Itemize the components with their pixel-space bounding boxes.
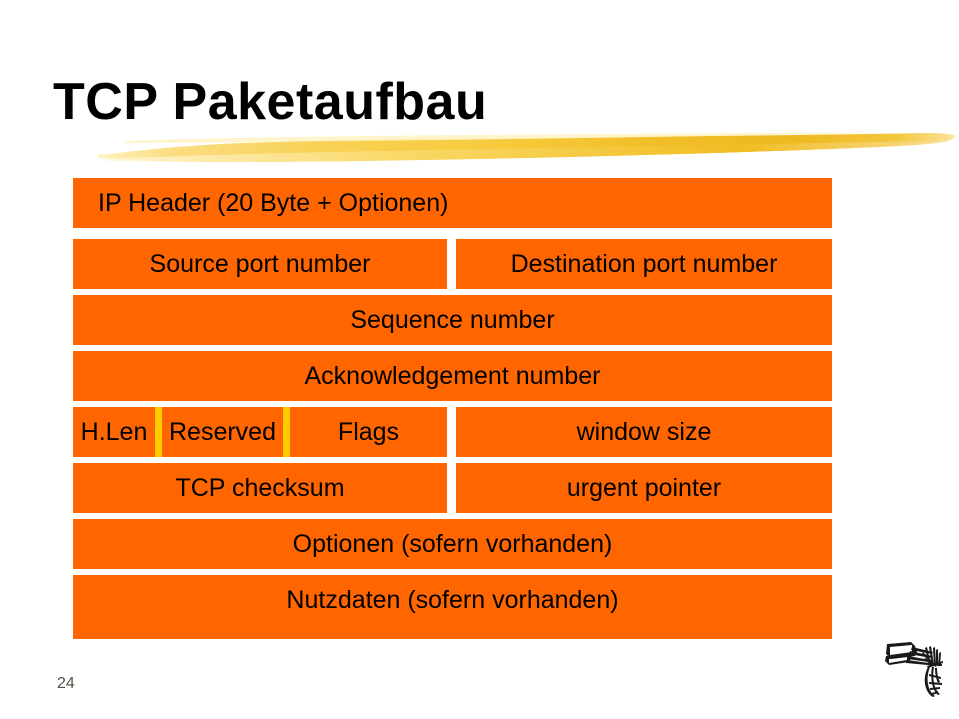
slide-canvas: TCP Paketaufbau <box>0 0 959 719</box>
reserved-label: Reserved <box>169 420 276 445</box>
window-size-label: window size <box>577 420 712 445</box>
source-port-label: Source port number <box>150 252 371 277</box>
sequence-number-row: Sequence number <box>73 295 832 345</box>
header-length-label: H.Len <box>81 420 148 445</box>
flags-label: Flags <box>338 420 399 445</box>
ip-header-row: IP Header (20 Byte + Optionen) <box>73 178 832 228</box>
header-flags-window-row: H.Len Reserved Flags window size <box>73 407 832 457</box>
quill-pen-icon <box>885 638 949 700</box>
sequence-number-cell: Sequence number <box>73 295 832 345</box>
options-cell: Optionen (sofern vorhanden) <box>73 519 832 569</box>
reserved-divider-icon <box>283 407 290 457</box>
acknowledgement-number-row: Acknowledgement number <box>73 351 832 401</box>
urgent-pointer-cell: urgent pointer <box>456 463 832 513</box>
destination-port-label: Destination port number <box>511 252 778 277</box>
port-numbers-row: Source port number Destination port numb… <box>73 239 832 289</box>
payload-label: Nutzdaten (sofern vorhanden) <box>286 588 618 613</box>
checksum-urgent-row: TCP checksum urgent pointer <box>73 463 832 513</box>
ip-header-label: IP Header (20 Byte + Optionen) <box>98 191 448 216</box>
header-length-divider-icon <box>155 407 162 457</box>
tcp-checksum-cell: TCP checksum <box>73 463 447 513</box>
source-port-cell: Source port number <box>73 239 447 289</box>
sequence-number-label: Sequence number <box>350 308 554 333</box>
tcp-packet-structure-diagram: IP Header (20 Byte + Optionen) Source po… <box>0 0 959 719</box>
header-flags-group: H.Len Reserved Flags <box>73 407 447 457</box>
flags-cell: Flags <box>290 407 447 457</box>
acknowledgement-number-label: Acknowledgement number <box>305 364 601 389</box>
acknowledgement-number-cell: Acknowledgement number <box>73 351 832 401</box>
header-length-cell: H.Len <box>73 407 155 457</box>
ip-header-cell: IP Header (20 Byte + Optionen) <box>73 178 832 228</box>
window-size-cell: window size <box>456 407 832 457</box>
payload-cell: Nutzdaten (sofern vorhanden) <box>73 575 832 639</box>
payload-row: Nutzdaten (sofern vorhanden) <box>73 575 832 639</box>
options-row: Optionen (sofern vorhanden) <box>73 519 832 569</box>
options-label: Optionen (sofern vorhanden) <box>293 532 613 557</box>
tcp-checksum-label: TCP checksum <box>175 476 344 501</box>
urgent-pointer-label: urgent pointer <box>567 476 721 501</box>
destination-port-cell: Destination port number <box>456 239 832 289</box>
page-number: 24 <box>57 676 75 692</box>
reserved-cell: Reserved <box>162 407 283 457</box>
